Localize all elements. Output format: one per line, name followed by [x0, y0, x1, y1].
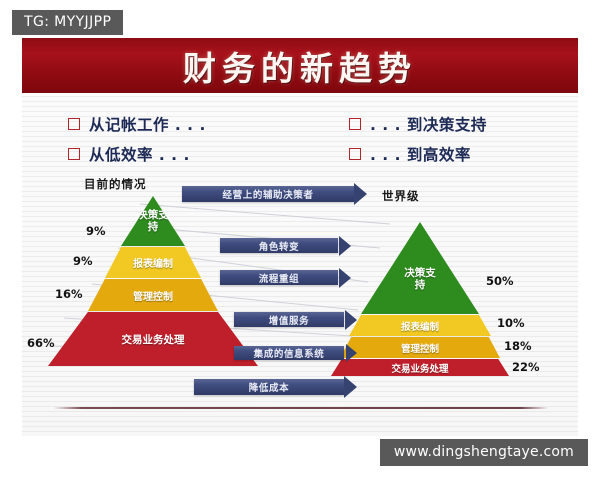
pyramid-right-pct-transactions: 22% [512, 360, 540, 374]
pyramid-right-layer-label: 管理控制 [401, 341, 439, 355]
bullet-label: . . . 到决策支持 [370, 113, 487, 135]
square-bullet-icon [68, 148, 80, 160]
arrow-integrated-info-system: 集成的信息系统 [234, 346, 344, 360]
pyramid-left-layer-transactions: 交易业务处理 [48, 312, 258, 366]
arrow-label: 降低成本 [249, 380, 289, 394]
pyramid-left-layer-reporting: 报表编制 [105, 247, 201, 278]
arrow-label: 流程重组 [259, 271, 299, 285]
arrow-head-icon [345, 310, 357, 330]
watermark-badge: www.dingshengtaye.com [380, 439, 588, 466]
pyramid-right-layer-label: 决策支持 [403, 267, 437, 291]
arrow-value-added-service: 增值服务 [234, 312, 344, 327]
arrow-head-icon [354, 183, 367, 205]
pyramid-left-layer-label: 交易业务处理 [122, 332, 185, 347]
bullet-list: 从记帐工作 . . . 从低效率 . . . . . . 到决策支持 . . .… [22, 108, 578, 170]
pyramid-left-layer-decision: 决策支持 [121, 196, 185, 246]
slide-body: 从记帐工作 . . . 从低效率 . . . . . . 到决策支持 . . .… [22, 96, 578, 436]
arrow-head-icon [344, 376, 357, 398]
pyramid-right-layer-label: 交易业务处理 [391, 361, 448, 375]
arrow-head-icon [339, 268, 351, 288]
pyramid-left-pct-control: 16% [55, 287, 83, 301]
arrow-label: 角色转变 [259, 239, 299, 253]
pyramid-left-pct-transactions: 66% [27, 336, 55, 350]
list-item: 从记帐工作 . . . [68, 113, 297, 135]
arrow-head-icon [339, 236, 351, 256]
arrow-role-change: 角色转变 [220, 238, 338, 253]
arrow-label: 经营上的辅助决策者 [223, 187, 314, 201]
list-item: . . . 到高效率 [349, 143, 578, 165]
slide-canvas: TG: MYYJJPP 财务的新趋势 从记帐工作 . . . 从低效率 . . … [0, 0, 600, 480]
list-item: 从低效率 . . . [68, 143, 297, 165]
square-bullet-icon [349, 118, 361, 130]
pyramid-right: 决策支持 报表编制 管理控制 交易业务处理 50% 10% 18% 22% [340, 222, 500, 366]
pyramid-left-layer-control: 管理控制 [88, 279, 218, 311]
pyramid-right-layer-control: 管理控制 [340, 337, 500, 358]
bullet-column-right: . . . 到决策支持 . . . 到高效率 [297, 108, 578, 170]
bottom-divider [52, 407, 550, 409]
arrow-head-icon [346, 344, 357, 362]
pyramid-left-layer-label: 报表编制 [133, 255, 173, 270]
pyramid-left-layer-label: 管理控制 [133, 288, 173, 303]
square-bullet-icon [349, 148, 361, 160]
square-bullet-icon [68, 118, 80, 130]
pyramid-left-layer-label: 决策支持 [136, 209, 170, 233]
bullet-column-left: 从记帐工作 . . . 从低效率 . . . [22, 108, 297, 170]
tg-tag-badge: TG: MYYJJPP [12, 10, 123, 35]
bullet-label: 从低效率 . . . [89, 143, 190, 165]
pyramid-right-pct-reporting: 10% [497, 316, 525, 330]
arrow-label: 增值服务 [269, 313, 309, 327]
page-title: 财务的新趋势 [183, 42, 417, 90]
bullet-label: 从记帐工作 . . . [89, 113, 206, 135]
arrow-cost-reduction: 降低成本 [194, 379, 344, 395]
pyramid-right-layer-label: 报表编制 [401, 319, 439, 333]
pyramid-left-pct-decision: 9% [86, 224, 106, 238]
pyramid-left-header: 目前的情况 [84, 176, 147, 192]
pyramid-right-layer-transactions: 交易业务处理 [331, 359, 509, 376]
pyramid-right-header: 世界级 [382, 188, 420, 204]
slide-title-bar: 财务的新趋势 [22, 38, 578, 93]
list-item: . . . 到决策支持 [349, 113, 578, 135]
pyramid-right-pct-control: 18% [504, 339, 532, 353]
bullet-label: . . . 到高效率 [370, 143, 471, 165]
arrow-process-reengineering: 流程重组 [220, 270, 338, 285]
arrow-label: 集成的信息系统 [254, 346, 325, 360]
arrow-advisor: 经营上的辅助决策者 [182, 186, 354, 202]
pyramid-right-pct-decision: 50% [486, 274, 514, 288]
pyramid-right-layer-decision: 决策支持 [361, 222, 479, 314]
pyramid-left-pct-reporting: 9% [73, 254, 93, 268]
pyramid-right-layer-reporting: 报表编制 [349, 315, 491, 336]
